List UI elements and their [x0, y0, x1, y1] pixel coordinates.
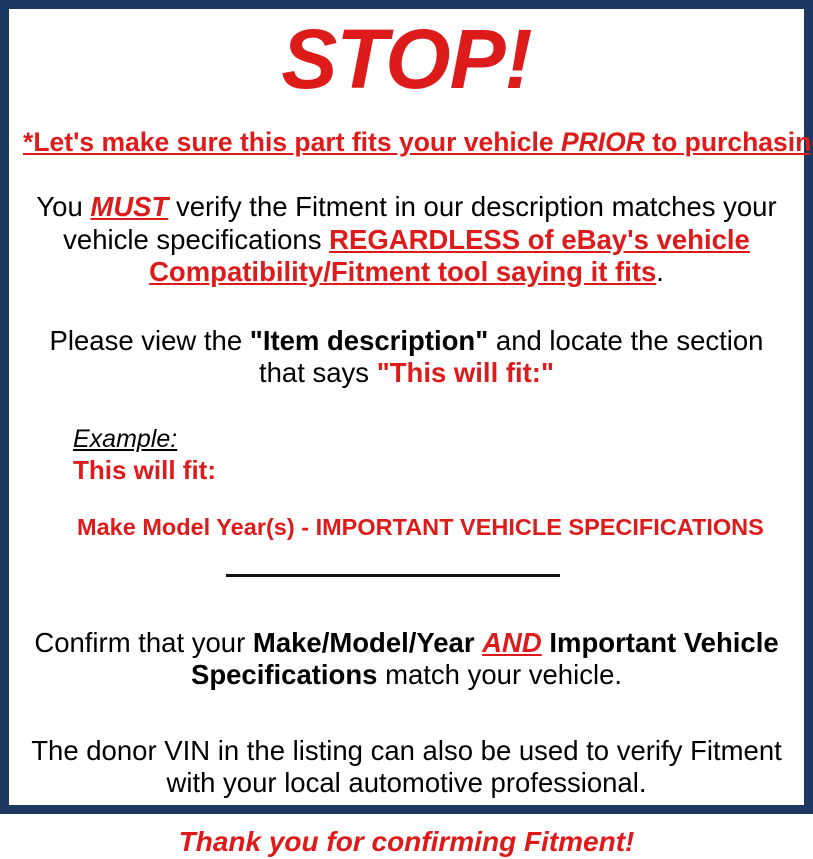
make-model-year-emphasis: Make/Model/Year — [253, 627, 475, 658]
subheadline: *Let's make sure this part fits your veh… — [23, 127, 790, 157]
page-title: STOP! — [23, 17, 790, 101]
and-emphasis: AND — [482, 627, 542, 658]
example-fit-heading: This will fit: — [73, 455, 790, 486]
confirm-part1: Confirm that your — [34, 627, 253, 658]
example-label: Example: — [73, 425, 790, 453]
example-spec-line: Make Model Year(s) - IMPORTANT VEHICLE S… — [73, 513, 790, 541]
subheadline-lead-text: *Let's make sure this part fits your veh… — [23, 127, 561, 157]
fitment-notice-card: STOP! *Let's make sure this part fits yo… — [0, 0, 813, 814]
must-part1: You — [36, 191, 90, 222]
must-part3: . — [656, 256, 664, 287]
confirm-part4: match your vehicle. — [377, 659, 622, 690]
subheadline-trail-text: to purchasing* — [645, 127, 813, 157]
divider-container — [23, 567, 790, 585]
example-block: Example: This will fit: Make Model Year(… — [23, 425, 790, 540]
subheadline-emphasis-prior: PRIOR — [561, 127, 645, 157]
paragraph-item-description: Please view the "Item description" and l… — [23, 325, 790, 389]
paragraph-donor-vin: The donor VIN in the listing can also be… — [23, 735, 790, 799]
paragraph-must-verify: You MUST verify the Fitment in our descr… — [23, 191, 790, 288]
must-emphasis: MUST — [90, 191, 168, 222]
desc-part1: Please view the — [50, 325, 250, 356]
thank-you-line: Thank you for confirming Fitment! — [23, 825, 790, 859]
horizontal-divider — [226, 574, 560, 577]
item-description-emphasis: "Item description" — [250, 325, 488, 356]
paragraph-confirm: Confirm that your Make/Model/Year AND Im… — [23, 627, 790, 691]
this-will-fit-emphasis: "This will fit:" — [377, 357, 554, 388]
